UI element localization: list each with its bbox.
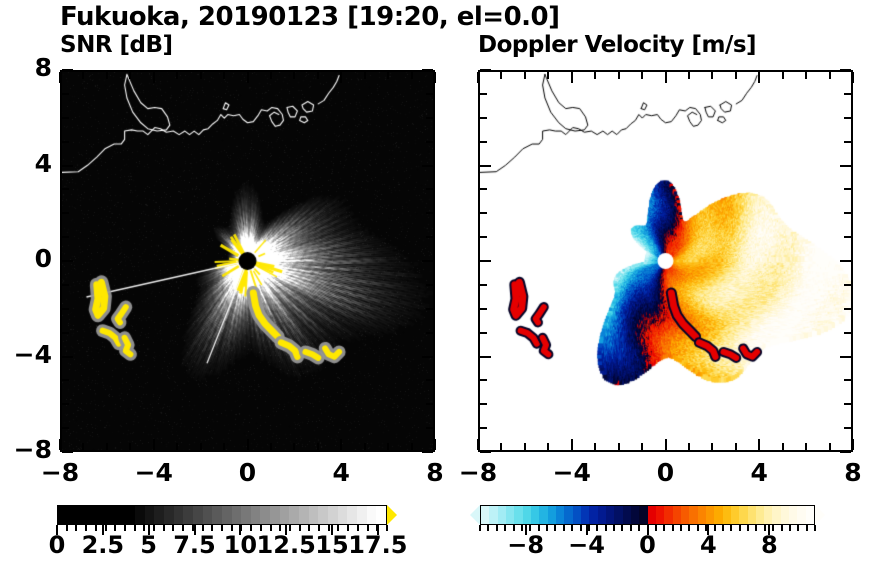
colorbar-minor-tick <box>308 525 310 531</box>
colorbar-minor-tick <box>663 525 665 531</box>
colorbar-swatch <box>698 506 706 524</box>
y-tick-minor <box>426 427 433 429</box>
colorbar-minor-tick <box>764 525 766 531</box>
y-tick-minor <box>62 308 69 310</box>
y-tick-minor <box>844 332 851 334</box>
y-tick-minor <box>426 93 433 95</box>
colorbar-minor-tick <box>621 525 623 531</box>
colorbar-minor-tick <box>554 525 556 531</box>
x-tick-major <box>59 72 61 83</box>
colorbar-swatch <box>270 506 280 524</box>
colorbar-swatch <box>498 506 506 524</box>
colorbar-swatch <box>68 506 78 524</box>
colorbar-swatch <box>376 506 386 524</box>
colorbar-minor-tick <box>546 525 548 531</box>
x-tick-minor <box>688 72 690 79</box>
x-tick-major <box>758 72 760 83</box>
colorbar-minor-tick <box>655 525 657 531</box>
colorbar-minor-tick <box>755 525 757 531</box>
colorbar-minor-tick <box>85 525 87 531</box>
colorbar-swatch <box>260 506 270 524</box>
colorbar-minor-tick <box>571 525 573 531</box>
x-tick-minor <box>129 443 131 450</box>
x-tick-major <box>852 439 854 450</box>
colorbar-swatch <box>564 506 572 524</box>
y-tick-minor <box>62 236 69 238</box>
y-tick-minor <box>480 332 487 334</box>
colorbar-minor-tick <box>66 525 68 531</box>
colorbar-swatch <box>731 506 739 524</box>
colorbar-minor-tick <box>529 525 531 531</box>
colorbar-swatch <box>289 506 299 524</box>
colorbar-swatch <box>664 506 672 524</box>
y-axis-label-2: 0 <box>0 244 52 273</box>
radar-figure: Fukuoka, 20190123 [19:20, el=0.0] SNR [d… <box>0 0 870 570</box>
colorbar-minor-tick <box>479 525 481 531</box>
colorbar-swatch <box>656 506 664 524</box>
colorbar-minor-tick <box>538 525 540 531</box>
colorbar-swatch <box>125 506 135 524</box>
colorbar-swatch <box>531 506 539 524</box>
colorbar-swatch <box>222 506 232 524</box>
x-tick-minor <box>223 443 225 450</box>
y-tick-minor <box>480 117 487 119</box>
colorbar-minor-tick <box>163 525 165 531</box>
x-tick-minor <box>200 443 202 450</box>
x-tick-minor <box>688 443 690 450</box>
colorbar-swatch <box>797 506 805 524</box>
x-tick-minor <box>317 443 319 450</box>
colorbar-swatch <box>309 506 319 524</box>
colorbar-swatch <box>689 506 697 524</box>
colorbar-minor-tick <box>221 525 223 531</box>
y-axis-label-0: −8 <box>0 435 52 464</box>
colorbar-swatch <box>589 506 597 524</box>
colorbar-swatch <box>97 506 107 524</box>
colorbar-swatch <box>648 506 656 524</box>
x-tick-major <box>434 439 436 450</box>
page-title: Fukuoka, 20190123 [19:20, el=0.0] <box>60 2 760 32</box>
panel-title-snr: SNR [dB] <box>60 32 173 58</box>
y-tick-major <box>62 69 73 71</box>
x-tick-major <box>340 72 342 83</box>
colorbar-minor-tick <box>299 525 301 531</box>
y-tick-major <box>62 451 73 453</box>
x-tick-minor <box>618 72 620 79</box>
y-tick-major <box>62 356 73 358</box>
y-tick-minor <box>426 403 433 405</box>
colorbar-tick-label-4: 8 <box>724 531 814 559</box>
x-tick-minor <box>106 72 108 79</box>
snr-radar-image <box>62 72 433 450</box>
colorbar-swatch <box>232 506 242 524</box>
y-tick-major <box>480 451 491 453</box>
x-tick-minor <box>270 72 272 79</box>
y-tick-minor <box>62 427 69 429</box>
colorbar-swatch <box>367 506 377 524</box>
y-tick-major <box>422 69 433 71</box>
snr-colorbar[interactable] <box>57 505 397 525</box>
x-axis-label-3: 4 <box>301 458 381 487</box>
y-tick-major <box>840 69 851 71</box>
colorbar-minor-tick <box>672 525 674 531</box>
y-tick-major <box>480 165 491 167</box>
y-tick-minor <box>480 236 487 238</box>
colorbar-swatch <box>781 506 789 524</box>
colorbar-swatch <box>706 506 714 524</box>
x-tick-minor <box>711 72 713 79</box>
colorbar-minor-tick <box>781 525 783 531</box>
colorbar-swatch <box>116 506 126 524</box>
colorbar-minor-tick <box>172 525 174 531</box>
colorbar-minor-tick <box>513 525 515 531</box>
x-tick-major <box>340 439 342 450</box>
y-tick-minor <box>426 141 433 143</box>
colorbar-swatch <box>489 506 497 524</box>
colorbar-minor-tick <box>605 525 607 531</box>
colorbar-swatch <box>639 506 647 524</box>
colorbar-swatch <box>764 506 772 524</box>
x-tick-major <box>571 72 573 83</box>
x-tick-minor <box>500 72 502 79</box>
colorbar-swatch <box>145 506 155 524</box>
colorbar-swatch <box>756 506 764 524</box>
colorbar-arrow-left <box>470 505 480 525</box>
x-axis-label-2: 0 <box>626 458 706 487</box>
x-axis-label-4: 8 <box>813 458 870 487</box>
snr-colorbar-gradient <box>57 505 387 525</box>
colorbar-minor-tick <box>638 525 640 531</box>
x-axis-label-3: 4 <box>719 458 799 487</box>
colorbar-tick-label-7: 17.5 <box>333 531 423 559</box>
x-tick-major <box>434 72 436 83</box>
colorbar-swatch <box>481 506 489 524</box>
colorbar-swatch <box>506 506 514 524</box>
x-tick-major <box>247 439 249 450</box>
y-tick-major <box>840 451 851 453</box>
doppler-plot-panel[interactable] <box>478 70 853 452</box>
colorbar-minor-tick <box>56 525 58 531</box>
x-tick-minor <box>641 72 643 79</box>
y-tick-minor <box>844 427 851 429</box>
x-tick-major <box>758 439 760 450</box>
y-tick-minor <box>426 212 433 214</box>
colorbar-swatch <box>58 506 68 524</box>
y-tick-minor <box>844 308 851 310</box>
colorbar-minor-tick <box>75 525 77 531</box>
colorbar-swatch <box>87 506 97 524</box>
colorbar-swatch <box>556 506 564 524</box>
y-tick-major <box>480 69 491 71</box>
x-tick-minor <box>524 443 526 450</box>
colorbar-swatch <box>714 506 722 524</box>
y-tick-minor <box>844 117 851 119</box>
x-tick-minor <box>293 72 295 79</box>
colorbar-minor-tick <box>318 525 320 531</box>
colorbar-swatch <box>299 506 309 524</box>
x-tick-minor <box>829 443 831 450</box>
x-axis-label-1: −4 <box>532 458 612 487</box>
y-tick-minor <box>480 212 487 214</box>
colorbar-minor-tick <box>328 525 330 531</box>
x-tick-minor <box>805 72 807 79</box>
colorbar-minor-tick <box>357 525 359 531</box>
colorbar-minor-tick <box>153 525 155 531</box>
colorbar-swatch <box>681 506 689 524</box>
x-tick-major <box>477 72 479 83</box>
x-tick-minor <box>176 72 178 79</box>
colorbar-swatch <box>748 506 756 524</box>
x-tick-major <box>153 72 155 83</box>
colorbar-minor-tick <box>747 525 749 531</box>
x-axis-label-2: 0 <box>208 458 288 487</box>
colorbar-swatch <box>631 506 639 524</box>
y-tick-major <box>422 165 433 167</box>
colorbar-minor-tick <box>772 525 774 531</box>
colorbar-minor-tick <box>95 525 97 531</box>
colorbar-swatch <box>806 506 814 524</box>
colorbar-swatch <box>251 506 261 524</box>
colorbar-swatch <box>523 506 531 524</box>
colorbar-swatch <box>548 506 556 524</box>
x-tick-minor <box>317 72 319 79</box>
colorbar-minor-tick <box>240 525 242 531</box>
y-tick-minor <box>844 236 851 238</box>
x-tick-minor <box>82 72 84 79</box>
x-tick-minor <box>176 443 178 450</box>
x-tick-major <box>665 72 667 83</box>
y-tick-minor <box>62 379 69 381</box>
x-tick-minor <box>711 443 713 450</box>
y-tick-minor <box>62 188 69 190</box>
panel-title-doppler: Doppler Velocity [m/s] <box>478 32 756 58</box>
colorbar-minor-tick <box>739 525 741 531</box>
colorbar-minor-tick <box>647 525 649 531</box>
colorbar-minor-tick <box>613 525 615 531</box>
x-tick-minor <box>411 443 413 450</box>
colorbar-swatch <box>338 506 348 524</box>
y-tick-minor <box>62 212 69 214</box>
y-tick-minor <box>480 427 487 429</box>
snr-plot-panel[interactable] <box>60 70 435 452</box>
colorbar-minor-tick <box>806 525 808 531</box>
x-tick-minor <box>782 72 784 79</box>
x-tick-minor <box>387 443 389 450</box>
y-tick-minor <box>480 284 487 286</box>
colorbar-swatch <box>347 506 357 524</box>
colorbar-minor-tick <box>580 525 582 531</box>
doppler-colorbar-gradient <box>480 505 815 525</box>
colorbar-minor-tick <box>105 525 107 531</box>
y-tick-major <box>62 165 73 167</box>
y-tick-minor <box>62 93 69 95</box>
y-tick-minor <box>480 93 487 95</box>
colorbar-swatch <box>606 506 614 524</box>
x-tick-major <box>665 439 667 450</box>
y-tick-minor <box>480 308 487 310</box>
y-tick-major <box>840 260 851 262</box>
colorbar-swatch <box>614 506 622 524</box>
doppler-radar-image <box>480 72 851 450</box>
x-tick-major <box>59 439 61 450</box>
y-tick-minor <box>426 188 433 190</box>
colorbar-swatch <box>514 506 522 524</box>
y-tick-minor <box>62 403 69 405</box>
x-tick-major <box>852 72 854 83</box>
y-axis-label-4: 8 <box>0 53 52 82</box>
y-tick-minor <box>844 212 851 214</box>
colorbar-swatch <box>193 506 203 524</box>
y-tick-major <box>422 451 433 453</box>
colorbar-swatch <box>203 506 213 524</box>
colorbar-minor-tick <box>496 525 498 531</box>
y-tick-major <box>480 260 491 262</box>
x-tick-minor <box>200 72 202 79</box>
x-tick-minor <box>364 443 366 450</box>
colorbar-swatch <box>623 506 631 524</box>
y-tick-minor <box>844 188 851 190</box>
colorbar-swatch <box>280 506 290 524</box>
colorbar-minor-tick <box>260 525 262 531</box>
x-tick-minor <box>805 443 807 450</box>
colorbar-minor-tick <box>680 525 682 531</box>
colorbar-swatch <box>77 506 87 524</box>
y-axis-label-1: −4 <box>0 340 52 369</box>
y-tick-minor <box>844 284 851 286</box>
x-tick-minor <box>500 443 502 450</box>
y-axis-label-3: 4 <box>0 149 52 178</box>
colorbar-minor-tick <box>124 525 126 531</box>
colorbar-swatch <box>241 506 251 524</box>
colorbar-swatch <box>581 506 589 524</box>
colorbar-swatch <box>328 506 338 524</box>
colorbar-minor-tick <box>697 525 699 531</box>
x-tick-major <box>477 439 479 450</box>
colorbar-swatch <box>573 506 581 524</box>
colorbar-minor-tick <box>504 525 506 531</box>
colorbar-swatch <box>174 506 184 524</box>
x-tick-minor <box>594 72 596 79</box>
y-tick-minor <box>844 403 851 405</box>
x-tick-major <box>247 72 249 83</box>
colorbar-swatch <box>183 506 193 524</box>
y-tick-minor <box>62 141 69 143</box>
colorbar-minor-tick <box>182 525 184 531</box>
x-axis-label-0: −8 <box>438 458 518 487</box>
y-tick-minor <box>426 332 433 334</box>
y-tick-minor <box>426 117 433 119</box>
colorbar-minor-tick <box>563 525 565 531</box>
colorbar-minor-tick <box>202 525 204 531</box>
colorbar-minor-tick <box>688 525 690 531</box>
colorbar-minor-tick <box>134 525 136 531</box>
x-tick-minor <box>524 72 526 79</box>
colorbar-minor-tick <box>705 525 707 531</box>
x-tick-minor <box>829 72 831 79</box>
y-tick-minor <box>480 403 487 405</box>
y-tick-major <box>840 165 851 167</box>
colorbar-swatch <box>723 506 731 524</box>
colorbar-swatch <box>789 506 797 524</box>
colorbar-minor-tick <box>722 525 724 531</box>
colorbar-minor-tick <box>337 525 339 531</box>
x-tick-minor <box>411 72 413 79</box>
colorbar-minor-tick <box>521 525 523 531</box>
y-tick-minor <box>844 141 851 143</box>
x-tick-minor <box>364 72 366 79</box>
x-tick-minor <box>782 443 784 450</box>
colorbar-minor-tick <box>797 525 799 531</box>
y-tick-minor <box>62 117 69 119</box>
x-tick-minor <box>293 443 295 450</box>
colorbar-minor-tick <box>588 525 590 531</box>
colorbar-minor-tick <box>596 525 598 531</box>
x-tick-major <box>571 439 573 450</box>
y-tick-minor <box>62 284 69 286</box>
colorbar-minor-tick <box>730 525 732 531</box>
x-tick-minor <box>618 443 620 450</box>
colorbar-minor-tick <box>250 525 252 531</box>
x-tick-minor <box>547 72 549 79</box>
y-tick-major <box>480 356 491 358</box>
y-tick-minor <box>480 379 487 381</box>
x-tick-minor <box>641 443 643 450</box>
colorbar-swatch <box>598 506 606 524</box>
colorbar-minor-tick <box>211 525 213 531</box>
x-tick-minor <box>82 443 84 450</box>
colorbar-swatch <box>106 506 116 524</box>
x-tick-minor <box>594 443 596 450</box>
colorbar-minor-tick <box>376 525 378 531</box>
y-tick-minor <box>62 332 69 334</box>
colorbar-minor-tick <box>289 525 291 531</box>
y-tick-major <box>422 260 433 262</box>
colorbar-minor-tick <box>487 525 489 531</box>
colorbar-swatch <box>673 506 681 524</box>
colorbar-swatch <box>539 506 547 524</box>
y-tick-minor <box>480 141 487 143</box>
x-tick-minor <box>547 443 549 450</box>
colorbar-minor-tick <box>347 525 349 531</box>
colorbar-swatch <box>212 506 222 524</box>
x-tick-minor <box>387 72 389 79</box>
colorbar-swatch <box>357 506 367 524</box>
y-tick-minor <box>426 379 433 381</box>
colorbar-minor-tick <box>386 525 388 531</box>
x-tick-minor <box>129 72 131 79</box>
colorbar-minor-tick <box>367 525 369 531</box>
x-axis-label-1: −4 <box>114 458 194 487</box>
x-tick-minor <box>735 72 737 79</box>
colorbar-swatch <box>164 506 174 524</box>
colorbar-minor-tick <box>143 525 145 531</box>
colorbar-minor-tick <box>114 525 116 531</box>
colorbar-swatch <box>154 506 164 524</box>
y-tick-minor <box>426 236 433 238</box>
colorbar-swatch <box>318 506 328 524</box>
x-tick-minor <box>270 443 272 450</box>
colorbar-minor-tick <box>279 525 281 531</box>
y-tick-minor <box>844 93 851 95</box>
y-tick-minor <box>426 284 433 286</box>
colorbar-minor-tick <box>231 525 233 531</box>
colorbar-minor-tick <box>192 525 194 531</box>
doppler-colorbar[interactable] <box>470 505 825 525</box>
y-tick-major <box>62 260 73 262</box>
x-tick-major <box>153 439 155 450</box>
colorbar-swatch <box>135 506 145 524</box>
colorbar-minor-tick <box>814 525 816 531</box>
